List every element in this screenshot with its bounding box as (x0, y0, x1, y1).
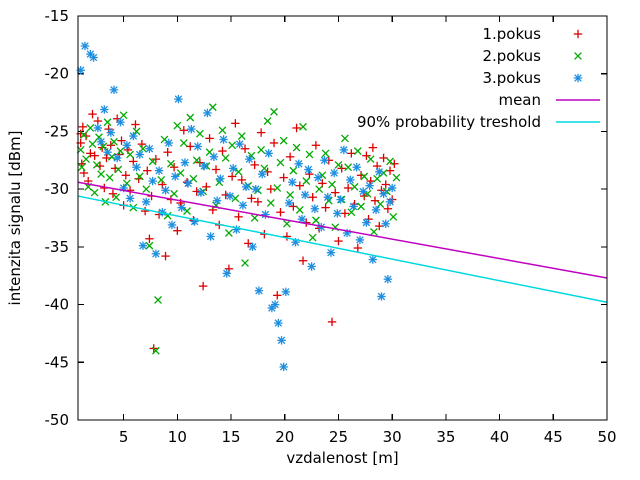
data-point (304, 165, 312, 173)
data-point (88, 110, 96, 118)
data-point (245, 155, 253, 163)
data-point (222, 155, 229, 162)
data-point (257, 128, 265, 136)
data-point (362, 218, 370, 226)
data-point (267, 200, 274, 207)
data-point (122, 171, 130, 179)
data-point (81, 42, 89, 50)
data-point (296, 206, 303, 213)
data-point (117, 148, 124, 155)
data-point (384, 205, 392, 213)
data-point (321, 203, 329, 211)
data-point (180, 140, 187, 147)
legend-label-mean: mean (498, 91, 541, 109)
data-point (361, 173, 368, 180)
data-point (229, 142, 236, 149)
data-point (358, 203, 365, 210)
data-point (341, 135, 348, 142)
data-point (258, 146, 265, 153)
data-point (145, 235, 153, 243)
data-point (296, 181, 304, 189)
data-point (103, 148, 111, 156)
y-tick-label: -30 (45, 180, 70, 198)
data-point (279, 363, 287, 371)
data-point (388, 184, 396, 192)
data-point (345, 164, 352, 171)
data-point (120, 112, 127, 119)
x-tick-label: 10 (168, 428, 187, 446)
data-point (574, 30, 582, 38)
data-point (382, 220, 390, 228)
x-tick-label: 50 (597, 428, 616, 446)
data-point (139, 242, 147, 250)
data-point (331, 188, 339, 196)
data-point (116, 118, 124, 126)
data-point (113, 154, 121, 162)
y-tick-label: -15 (45, 7, 70, 25)
data-point (187, 114, 194, 121)
legend-label-2-pokus: 2.pokus (482, 47, 541, 65)
data-point (375, 168, 383, 176)
data-point (333, 209, 341, 217)
data-point (110, 86, 118, 94)
data-point (143, 186, 150, 193)
data-point (199, 282, 207, 290)
legend-label-3-pokus: 3.pokus (482, 69, 541, 87)
data-point (181, 158, 189, 166)
x-tick-label: 30 (383, 428, 402, 446)
data-point (308, 193, 316, 201)
data-point (371, 196, 379, 204)
data-point (387, 158, 394, 165)
data-point (238, 133, 245, 140)
data-point (311, 205, 319, 213)
data-point (212, 165, 220, 173)
y-tick-label: -40 (45, 296, 70, 314)
data-point (129, 132, 137, 140)
data-point (277, 159, 284, 166)
y-tick-label: -20 (45, 65, 70, 83)
x-axis-title: vzdalenost [m] (286, 449, 398, 467)
data-point (145, 145, 153, 153)
data-point (335, 161, 342, 168)
data-point (79, 123, 87, 131)
data-point (106, 174, 113, 181)
data-point (206, 232, 214, 240)
data-point (136, 150, 144, 158)
data-point (194, 142, 202, 150)
data-point (252, 185, 260, 193)
data-point (141, 207, 149, 215)
data-point (234, 213, 242, 221)
y-tick-label: -25 (45, 122, 70, 140)
data-point (369, 255, 377, 263)
data-point (231, 119, 239, 127)
data-point (274, 185, 281, 192)
data-point (374, 175, 381, 182)
data-point (575, 53, 582, 60)
data-point (312, 217, 319, 224)
data-point (288, 178, 296, 186)
legend-label-90-probability-treshold: 90% probability treshold (357, 113, 541, 131)
data-point (186, 142, 194, 150)
data-point (219, 127, 226, 134)
data-point (354, 148, 361, 155)
data-point (168, 221, 176, 229)
data-point (264, 118, 271, 125)
y-tick-label: -45 (45, 353, 70, 371)
data-point (155, 166, 163, 174)
data-point (203, 109, 211, 117)
data-point (127, 151, 134, 158)
data-point (216, 175, 224, 183)
data-point (316, 186, 323, 193)
data-point (219, 135, 227, 143)
x-tick-label: 15 (222, 428, 241, 446)
data-point (148, 177, 156, 185)
data-point (353, 163, 361, 171)
data-point (126, 194, 134, 202)
data-point (261, 210, 269, 218)
data-point (267, 185, 275, 193)
data-point (229, 164, 237, 172)
data-point (270, 139, 278, 147)
data-point (258, 170, 266, 178)
data-point (155, 297, 162, 304)
data-point (200, 162, 208, 170)
data-point (390, 213, 397, 220)
data-point (113, 194, 120, 201)
data-point (104, 119, 111, 126)
data-point (271, 108, 278, 115)
data-point (91, 189, 98, 196)
data-point (171, 172, 179, 180)
data-point (334, 237, 342, 245)
data-point (242, 183, 250, 191)
data-point (356, 236, 364, 244)
data-point (303, 178, 310, 185)
data-point (167, 160, 174, 167)
data-point (367, 156, 374, 163)
data-point (286, 153, 294, 161)
x-tick-label: 20 (275, 428, 294, 446)
data-point (143, 166, 151, 174)
data-point (377, 201, 384, 208)
data-point (223, 269, 231, 277)
data-point (277, 336, 285, 344)
data-points-layer (76, 42, 399, 371)
data-point (218, 147, 226, 155)
x-tick-label: 25 (329, 428, 348, 446)
data-point (248, 243, 256, 251)
data-point (271, 300, 279, 308)
data-point (282, 288, 290, 296)
legend: 1.pokus2.pokus3.pokusmean90% probability… (357, 25, 600, 131)
data-point (349, 202, 357, 210)
data-point (100, 105, 108, 113)
data-point (370, 228, 377, 235)
data-point (309, 234, 316, 241)
chart-container: 5101520253035404550-15-20-25-30-35-40-45… (0, 0, 640, 480)
data-point (251, 215, 258, 222)
series-3.pokus (76, 42, 396, 371)
data-point (341, 209, 349, 217)
data-point (210, 153, 218, 161)
data-point (299, 257, 307, 265)
data-point (205, 134, 213, 142)
y-tick-label: -35 (45, 238, 70, 256)
data-point (372, 206, 380, 214)
data-point (328, 318, 336, 326)
data-point (133, 128, 140, 135)
data-point (123, 141, 131, 149)
data-point (292, 124, 300, 132)
data-point (97, 138, 105, 146)
data-point (161, 252, 169, 260)
data-point (163, 148, 171, 156)
data-point (273, 291, 281, 299)
data-point (228, 172, 236, 180)
data-point (346, 176, 354, 184)
data-point (295, 160, 303, 168)
data-point (115, 166, 122, 173)
data-point (283, 220, 290, 227)
data-point (225, 230, 232, 237)
data-point (393, 174, 400, 181)
data-point (377, 292, 385, 300)
data-point (340, 146, 348, 154)
data-point (386, 198, 394, 206)
data-point (152, 250, 160, 258)
data-point (276, 208, 284, 216)
data-point (324, 193, 332, 201)
data-point (132, 163, 140, 171)
data-point (287, 191, 294, 198)
data-point (187, 125, 195, 133)
data-point (174, 122, 181, 129)
data-point (264, 149, 272, 157)
data-point (279, 173, 287, 181)
data-point (312, 141, 320, 149)
x-tick-label: 40 (490, 428, 509, 446)
data-point (330, 169, 338, 177)
data-point (171, 190, 178, 197)
data-point (336, 195, 344, 203)
fit-line-mean (78, 182, 607, 278)
data-point (131, 120, 139, 128)
data-point (165, 139, 173, 147)
data-point (196, 130, 203, 137)
data-point (111, 138, 118, 145)
data-point (213, 196, 221, 204)
data-point (158, 176, 165, 183)
data-point (89, 141, 96, 148)
data-point (384, 275, 392, 283)
data-point (300, 123, 307, 130)
data-point (306, 151, 313, 158)
x-tick-label: 35 (436, 428, 455, 446)
fit-line-90-probability-treshold (78, 196, 607, 302)
data-point (280, 137, 287, 144)
x-tick-label: 5 (119, 428, 129, 446)
data-point (290, 167, 297, 174)
data-point (322, 150, 329, 157)
data-point (161, 186, 169, 194)
data-point (197, 188, 205, 196)
data-point (293, 144, 300, 151)
data-point (142, 198, 150, 206)
data-point (89, 53, 97, 61)
data-point (386, 166, 394, 174)
data-point (180, 126, 188, 134)
data-point (369, 143, 377, 151)
data-point (574, 74, 582, 82)
data-point (379, 154, 387, 162)
legend-label-1-pokus: 1.pokus (482, 25, 541, 43)
data-point (239, 201, 247, 209)
data-point (301, 191, 309, 199)
y-tick-label: -50 (45, 411, 70, 429)
data-point (177, 203, 185, 211)
data-point (329, 181, 336, 188)
data-point (235, 140, 243, 148)
data-point (123, 180, 130, 187)
data-point (283, 232, 291, 240)
data-point (347, 149, 355, 157)
data-point (327, 248, 335, 256)
y-axis-title: intenzita signalu [dBm] (6, 131, 24, 306)
data-point (365, 181, 373, 189)
data-point (107, 128, 115, 136)
data-point (226, 192, 234, 200)
data-point (351, 183, 358, 190)
data-point (87, 125, 94, 132)
scatter-plot: 5101520253035404550-15-20-25-30-35-40-45… (0, 0, 640, 480)
data-point (307, 262, 315, 270)
data-point (93, 161, 100, 168)
data-point (83, 156, 90, 163)
data-point (98, 171, 105, 178)
data-point (314, 173, 322, 181)
x-tick-label: 45 (544, 428, 563, 446)
data-point (285, 199, 293, 207)
data-point (320, 156, 328, 164)
data-point (184, 179, 192, 187)
data-point (274, 319, 282, 327)
data-point (242, 260, 249, 267)
data-point (174, 95, 182, 103)
data-point (379, 190, 387, 198)
data-point (94, 124, 102, 132)
data-point (344, 184, 352, 192)
data-point (255, 287, 263, 295)
